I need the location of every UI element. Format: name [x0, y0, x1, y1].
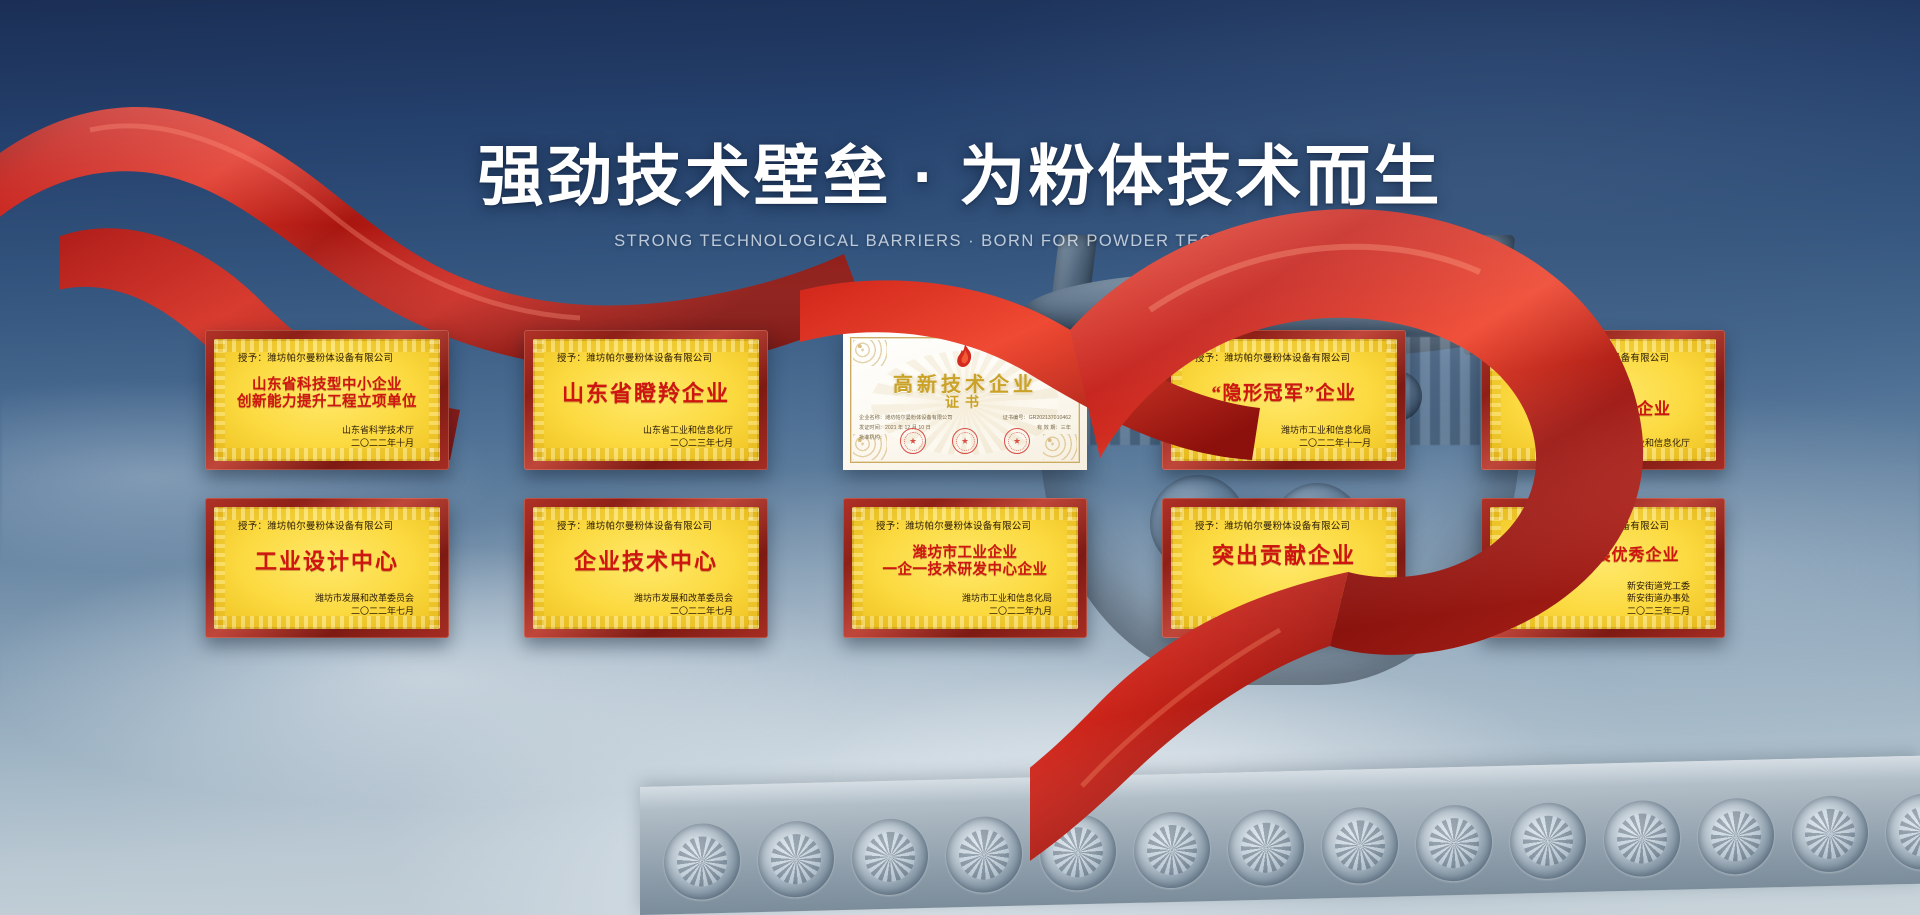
plaque-issuer-line: 新安街道党工委: [1502, 580, 1690, 593]
frieze-medallion-icon: [1792, 795, 1868, 873]
frieze-medallion-icon: [1134, 811, 1210, 889]
award-plaque-weifang-one-enterprise-one-technology-rd-center[interactable]: 授予：潍坊帕尔曼粉体设备有限公司潍坊市工业企业一企一技术研发中心企业潍坊市工业和…: [843, 498, 1087, 638]
frieze-medallion-icon: [664, 823, 740, 901]
headline-block: 强劲技术壁垒 · 为粉体技术而生 STRONG TECHNOLOGICAL BA…: [0, 140, 1920, 251]
plaque-issuer-line: 山东省工业和信息化厅: [1502, 437, 1690, 450]
plaque-issuer-line: 山东省科学技术厅: [226, 424, 414, 437]
certificate-seals: [843, 428, 1087, 454]
plaque-issuer-line: 二〇二二年九月: [864, 605, 1052, 618]
plaque-issuer-line: 新安街道办事处: [1502, 592, 1690, 605]
plaque-issuer: 潍坊市发展和改革委员会二〇二二年七月: [545, 592, 747, 620]
plaque-gold-plate: 授予：潍坊帕尔曼粉体设备有限公司山东省科技型中小企业创新能力提升工程立项单位山东…: [214, 339, 440, 461]
award-plaque-industrial-design-center[interactable]: 授予：潍坊帕尔曼粉体设备有限公司工业设计中心潍坊市发展和改革委员会二〇二二年七月: [205, 498, 449, 638]
plaque-title-line: “隐形冠军”企业: [1211, 384, 1356, 405]
plaque-gold-plate: 授予：潍坊帕尔曼粉体设备有限公司山东省瞪羚企业山东省工业和信息化厅二〇二三年七月: [533, 339, 759, 461]
plaque-awardee: 授予：潍坊帕尔曼粉体设备有限公司: [1183, 350, 1385, 364]
plaque-awardee: 授予：潍坊帕尔曼粉体设备有限公司: [1183, 518, 1385, 532]
plaque-issuer-line: 潍坊市工业和信息化局: [1183, 424, 1371, 437]
award-plaque-shandong-specialized-sme[interactable]: 授予：潍坊帕尔曼粉体设备有限公司山东省专精特新中小企业山东省工业和信息化厅: [1481, 330, 1725, 470]
frieze-medallion-icon: [758, 820, 834, 898]
plaque-issuer-line: 二〇二二年十月: [226, 437, 414, 450]
plaque-issuer-line: 潍坊市发展和改革委员会: [545, 592, 733, 605]
plaque-title: 工业设计中心: [226, 532, 428, 592]
frieze-medallion-icon: [946, 816, 1022, 894]
plaque-awardee: 授予：潍坊帕尔曼粉体设备有限公司: [1502, 350, 1704, 364]
plaque-issuer-line: 山东省工业和信息化厅: [545, 424, 733, 437]
plaque-title: 企业技术中心: [545, 532, 747, 592]
plaque-title-line: 高质量发展优秀企业: [1526, 547, 1679, 564]
award-plaque-shandong-sci-tech-sme-innovation[interactable]: 授予：潍坊帕尔曼粉体设备有限公司山东省科技型中小企业创新能力提升工程立项单位山东…: [205, 330, 449, 470]
official-seal-icon: [900, 428, 926, 454]
plaque-issuer: 新安街道党工委新安街道办事处二〇二三年二月: [1502, 580, 1704, 620]
award-plaque-high-quality-development-excellent-enterprise[interactable]: 授予：潍坊帕尔曼粉体设备有限公司高质量发展优秀企业新安街道党工委新安街道办事处二…: [1481, 498, 1725, 638]
plaque-awardee: 授予：潍坊帕尔曼粉体设备有限公司: [864, 518, 1066, 532]
plaque-title: 山东省瞪羚企业: [545, 364, 747, 424]
plaque-awardee: 授予：潍坊帕尔曼粉体设备有限公司: [545, 518, 747, 532]
plaque-issuer: 潍坊市工业和信息化局二〇二二年九月: [864, 592, 1066, 620]
award-plaque-shandong-gazelle-enterprise[interactable]: 授予：潍坊帕尔曼粉体设备有限公司山东省瞪羚企业山东省工业和信息化厅二〇二三年七月: [524, 330, 768, 470]
plaque-gold-plate: 授予：潍坊帕尔曼粉体设备有限公司企业技术中心潍坊市发展和改革委员会二〇二二年七月: [533, 507, 759, 629]
plaque-title: 突出贡献企业: [1183, 532, 1385, 580]
plaque-title-line: 专精特新中小企业: [1535, 401, 1671, 418]
plaque-issuer-line: 二〇二三年二月: [1502, 605, 1690, 618]
frieze-medallion-icon: [1322, 806, 1398, 884]
plaque-title: “隐形冠军”企业: [1183, 364, 1385, 424]
plaque-issuer-line: 潍坊市工业和信息化局: [864, 592, 1052, 605]
plaque-issuer: 潍坊市工业和信息化局二〇二二年十一月: [1183, 424, 1385, 452]
awards-row-bottom: 授予：潍坊帕尔曼粉体设备有限公司工业设计中心潍坊市发展和改革委员会二〇二二年七月…: [205, 498, 1725, 638]
plaque-title-line: 企业技术中心: [574, 550, 718, 574]
certificate-field: 企业名称：潍坊帕尔曼粉体设备有限公司: [859, 414, 952, 424]
plaque-gold-plate: 授予：潍坊帕尔曼粉体设备有限公司工业设计中心潍坊市发展和改革委员会二〇二二年七月: [214, 507, 440, 629]
plaque-title-line: 山东省: [1577, 383, 1628, 400]
awards-grid: 授予：潍坊帕尔曼粉体设备有限公司山东省科技型中小企业创新能力提升工程立项单位山东…: [205, 330, 1725, 666]
plaque-issuer-line: 二〇二三年七月: [545, 437, 733, 450]
page-subtitle: STRONG TECHNOLOGICAL BARRIERS · BORN FOR…: [0, 232, 1920, 251]
certificate-corner-ornament-icon: [1043, 340, 1077, 366]
award-plaque-enterprise-technology-center[interactable]: 授予：潍坊帕尔曼粉体设备有限公司企业技术中心潍坊市发展和改革委员会二〇二二年七月: [524, 498, 768, 638]
plaque-gold-plate: 授予：潍坊帕尔曼粉体设备有限公司突出贡献企业中共官庄镇委官庄镇人民政府二〇二〇年…: [1171, 507, 1397, 629]
plaque-title-line: 潍坊市工业企业: [913, 546, 1018, 562]
frieze-medallion-icon: [1886, 793, 1920, 871]
plaque-issuer: 山东省科学技术厅二〇二二年十月: [226, 424, 428, 452]
frieze-medallion-icon: [1416, 804, 1492, 882]
certificate-field: 证书编号：GR202137010462: [1003, 414, 1071, 424]
frieze-medallion-icon: [1040, 813, 1116, 891]
certificate-field-row: 企业名称：潍坊帕尔曼粉体设备有限公司证书编号：GR202137010462: [859, 414, 1071, 424]
plaque-issuer-line: 中共官庄镇委: [1183, 580, 1371, 593]
frieze-medallion-icon: [1604, 800, 1680, 878]
plaque-awardee: 授予：潍坊帕尔曼粉体设备有限公司: [545, 350, 747, 364]
plaque-issuer-line: 二〇二〇年一月: [1183, 605, 1371, 618]
plaque-gold-plate: 授予：潍坊帕尔曼粉体设备有限公司高质量发展优秀企业新安街道党工委新安街道办事处二…: [1490, 507, 1716, 629]
plaque-gold-plate: 授予：潍坊帕尔曼粉体设备有限公司潍坊市工业企业一企一技术研发中心企业潍坊市工业和…: [852, 507, 1078, 629]
plaque-title-line: 突出贡献企业: [1212, 544, 1356, 568]
frieze-medallion-icon: [852, 818, 928, 896]
frieze-medallion-icon: [1510, 802, 1586, 880]
plaque-issuer: 潍坊市发展和改革委员会二〇二二年七月: [226, 592, 428, 620]
plaque-title-line: 工业设计中心: [255, 550, 399, 574]
award-certificate-high-tech-enterprise-certificate[interactable]: 高新技术企业证书企业名称：潍坊帕尔曼粉体设备有限公司证书编号：GR2021370…: [843, 330, 1087, 470]
plaque-issuer-line: 官庄镇人民政府: [1183, 592, 1371, 605]
plaque-awardee: 授予：潍坊帕尔曼粉体设备有限公司: [226, 518, 428, 532]
official-seal-icon: [1004, 428, 1030, 454]
banner-stage: 强劲技术壁垒 · 为粉体技术而生 STRONG TECHNOLOGICAL BA…: [0, 0, 1920, 915]
plaque-issuer-line: 二〇二二年七月: [226, 605, 414, 618]
plaque-issuer: 山东省工业和信息化厅二〇二三年七月: [545, 424, 747, 452]
plaque-title-line: 山东省科技型中小企业: [252, 378, 402, 394]
plaque-title-line: 创新能力提升工程立项单位: [237, 395, 417, 411]
official-seal-icon: [952, 428, 978, 454]
frieze-medallion-icon: [1228, 809, 1304, 887]
plaque-title: 高质量发展优秀企业: [1502, 532, 1704, 580]
plaque-title-line: 一企一技术研发中心企业: [883, 563, 1048, 579]
award-plaque-outstanding-contribution-enterprise[interactable]: 授予：潍坊帕尔曼粉体设备有限公司突出贡献企业中共官庄镇委官庄镇人民政府二〇二〇年…: [1162, 498, 1406, 638]
plaque-title: 山东省科技型中小企业创新能力提升工程立项单位: [226, 364, 428, 424]
awards-row-top: 授予：潍坊帕尔曼粉体设备有限公司山东省科技型中小企业创新能力提升工程立项单位山东…: [205, 330, 1725, 470]
certificate-subtitle: 证书: [843, 392, 1087, 412]
page-title: 强劲技术壁垒 · 为粉体技术而生: [0, 140, 1920, 214]
plaque-awardee: 授予：潍坊帕尔曼粉体设备有限公司: [226, 350, 428, 364]
plaque-issuer-line: 二〇二二年七月: [545, 605, 733, 618]
frieze-medallion-icon: [1698, 797, 1774, 875]
certificate-corner-ornament-icon: [853, 340, 887, 366]
plaque-issuer: 中共官庄镇委官庄镇人民政府二〇二〇年一月: [1183, 580, 1385, 620]
high-tech-flame-icon: [955, 344, 975, 368]
award-plaque-hidden-champion-enterprise[interactable]: 授予：潍坊帕尔曼粉体设备有限公司“隐形冠军”企业潍坊市工业和信息化局二〇二二年十…: [1162, 330, 1406, 470]
frieze-medallion-row: [640, 790, 1920, 905]
plaque-awardee: 授予：潍坊帕尔曼粉体设备有限公司: [1502, 518, 1704, 532]
plaque-issuer-line: 二〇二二年十一月: [1183, 437, 1371, 450]
plaque-gold-plate: 授予：潍坊帕尔曼粉体设备有限公司“隐形冠军”企业潍坊市工业和信息化局二〇二二年十…: [1171, 339, 1397, 461]
plaque-issuer-line: 潍坊市发展和改革委员会: [226, 592, 414, 605]
plaque-gold-plate: 授予：潍坊帕尔曼粉体设备有限公司山东省专精特新中小企业山东省工业和信息化厅: [1490, 339, 1716, 461]
plaque-title-line: 山东省瞪羚企业: [562, 382, 730, 406]
plaque-title: 潍坊市工业企业一企一技术研发中心企业: [864, 532, 1066, 592]
plaque-issuer: 山东省工业和信息化厅: [1502, 437, 1704, 452]
plaque-title: 山东省专精特新中小企业: [1502, 364, 1704, 437]
